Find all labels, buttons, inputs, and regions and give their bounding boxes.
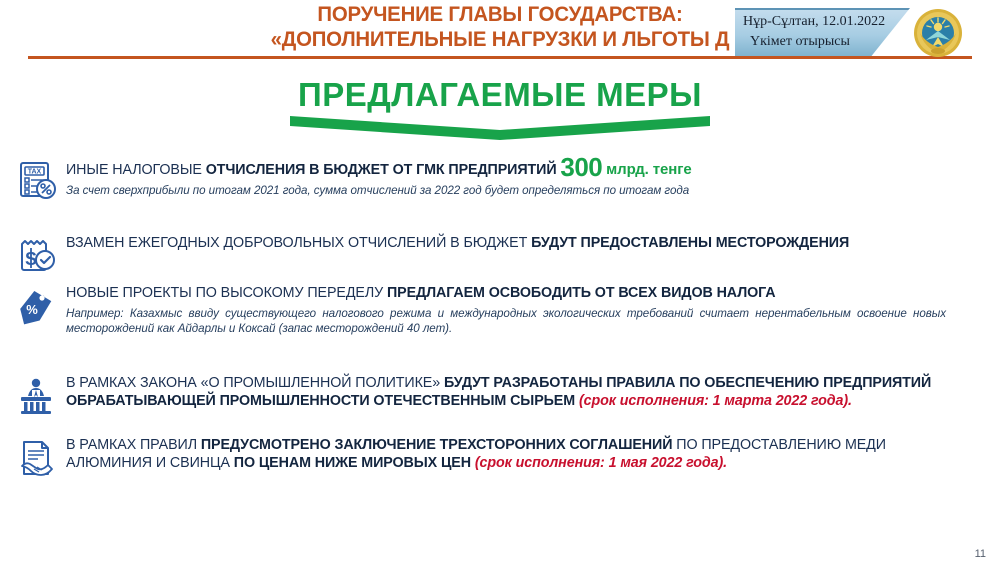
measure-row-2-main: ВЗАМЕН ЕЖЕГОДНЫХ ДОБРОВОЛЬНЫХ ОТЧИСЛЕНИЙ… — [66, 234, 1000, 252]
measure-row-4-line-1: В РАМКАХ ЗАКОНА «О ПРОМЫШЛЕННОЙ ПОЛИТИКЕ… — [66, 374, 1000, 392]
measure-row-4-line-2: ОБРАБАТЫВАЮЩЕЙ ПРОМЫШЛЕННОСТИ ОТЕЧЕСТВЕН… — [66, 392, 1000, 410]
measure-row-4-body: В РАМКАХ ЗАКОНА «О ПРОМЫШЛЕННОЙ ПОЛИТИКЕ… — [66, 374, 1000, 410]
measure-row-5-line-1: В РАМКАХ ПРАВИЛ ПРЕДУСМОТРЕНО ЗАКЛЮЧЕНИЕ… — [66, 436, 1000, 454]
row1-amount: 300 — [560, 152, 602, 182]
measure-row-3-note: Например: Казахмыс ввиду существующего н… — [66, 306, 946, 336]
price-tag-percent-icon: % — [14, 284, 58, 328]
measure-row-3-body: НОВЫЕ ПРОЕКТЫ ПО ВЫСОКОМУ ПЕРЕДЕЛУ ПРЕДЛ… — [66, 284, 1000, 336]
page-number: 11 — [975, 548, 986, 560]
kazakhstan-coat-of-arms-icon — [912, 7, 964, 59]
measure-row-5-line-2: АЛЮМИНИЯ И СВИНЦА ПО ЦЕНАМ НИЖЕ МИРОВЫХ … — [66, 454, 1000, 472]
row5-deadline: (срок исполнения: 1 мая 2022 года). — [475, 455, 727, 471]
row4-deadline: (срок исполнения: 1 марта 2022 года). — [579, 393, 852, 409]
badge-line-location-date: Нұр-Сұлтан, 12.01.2022 — [743, 12, 903, 32]
receipt-dollar-check-icon: S — [14, 234, 58, 278]
measure-row-5-body: В РАМКАХ ПРАВИЛ ПРЕДУСМОТРЕНО ЗАКЛЮЧЕНИЕ… — [66, 436, 1000, 472]
row5-line2-prefix: АЛЮМИНИЯ И СВИНЦА — [66, 455, 234, 471]
date-location-badge: Нұр-Сұлтан, 12.01.2022 Үкімет отырысы — [735, 8, 910, 56]
header-divider-rule — [28, 56, 972, 59]
row5-line1-prefix: В РАМКАХ ПРАВИЛ — [66, 437, 201, 453]
measure-row-1-body: ИНЫЕ НАЛОГОВЫЕ ОТЧИСЛЕНИЯ В БЮДЖЕТ ОТ ГМ… — [66, 158, 1000, 198]
svg-text:TAX: TAX — [28, 169, 42, 176]
measure-row-2-body: ВЗАМЕН ЕЖЕГОДНЫХ ДОБРОВОЛЬНЫХ ОТЧИСЛЕНИЙ… — [66, 234, 1000, 252]
row3-bold: ПРЕДЛАГАЕМ ОСВОБОДИТЬ ОТ ВСЕХ ВИДОВ НАЛО… — [387, 285, 776, 301]
tax-document-percent-icon: TAX — [14, 158, 58, 202]
row1-bold: ОТЧИСЛЕНИЯ В БЮДЖЕТ ОТ ГМК ПРЕДПРИЯТИЙ — [206, 162, 557, 178]
contract-handshake-icon — [14, 436, 58, 480]
row4-line1-prefix: В РАМКАХ ЗАКОНА «О ПРОМЫШЛЕННОЙ ПОЛИТИКЕ… — [66, 375, 444, 391]
row1-amount-unit: млрд. тенге — [606, 161, 692, 178]
row5-line1-suffix: ПО ПРЕДОСТАВЛЕНИЮ МЕДИ — [676, 437, 886, 453]
svg-text:%: % — [26, 302, 38, 317]
row1-prefix: ИНЫЕ НАЛОГОВЫЕ — [66, 162, 206, 178]
badge-line-event: Үкімет отырысы — [743, 32, 903, 52]
page-title: ПРЕДЛАГАЕМЫЕ МЕРЫ — [0, 76, 1000, 114]
row2-bold: БУДУТ ПРЕДОСТАВЛЕНЫ МЕСТОРОЖДЕНИЯ — [531, 235, 849, 251]
row4-line2-bold: ОБРАБАТЫВАЮЩЕЙ ПРОМЫШЛЕННОСТИ ОТЕЧЕСТВЕН… — [66, 393, 579, 409]
government-podium-speaker-icon — [14, 374, 58, 418]
measure-row-1-main: ИНЫЕ НАЛОГОВЫЕ ОТЧИСЛЕНИЯ В БЮДЖЕТ ОТ ГМ… — [66, 158, 1000, 179]
title-chevron-underline — [290, 116, 710, 140]
row4-line1-bold: БУДУТ РАЗРАБОТАНЫ ПРАВИЛА ПО ОБЕСПЕЧЕНИЮ… — [444, 375, 931, 391]
row5-line2-bold: ПО ЦЕНАМ НИЖЕ МИРОВЫХ ЦЕН — [234, 455, 475, 471]
slide-header: ПОРУЧЕНИЕ ГЛАВЫ ГОСУДАРСТВА: «ДОПОЛНИТЕЛ… — [0, 0, 1000, 66]
row2-prefix: ВЗАМЕН ЕЖЕГОДНЫХ ДОБРОВОЛЬНЫХ ОТЧИСЛЕНИЙ… — [66, 235, 531, 251]
measure-row-1-note: За счет сверхприбыли по итогам 2021 года… — [66, 183, 1000, 198]
date-badge-text: Нұр-Сұлтан, 12.01.2022 Үкімет отырысы — [743, 12, 903, 52]
row3-prefix: НОВЫЕ ПРОЕКТЫ ПО ВЫСОКОМУ ПЕРЕДЕЛУ — [66, 285, 387, 301]
measure-row-3-main: НОВЫЕ ПРОЕКТЫ ПО ВЫСОКОМУ ПЕРЕДЕЛУ ПРЕДЛ… — [66, 284, 1000, 302]
row5-line1-bold: ПРЕДУСМОТРЕНО ЗАКЛЮЧЕНИЕ ТРЕХСТОРОННИХ С… — [201, 437, 676, 453]
